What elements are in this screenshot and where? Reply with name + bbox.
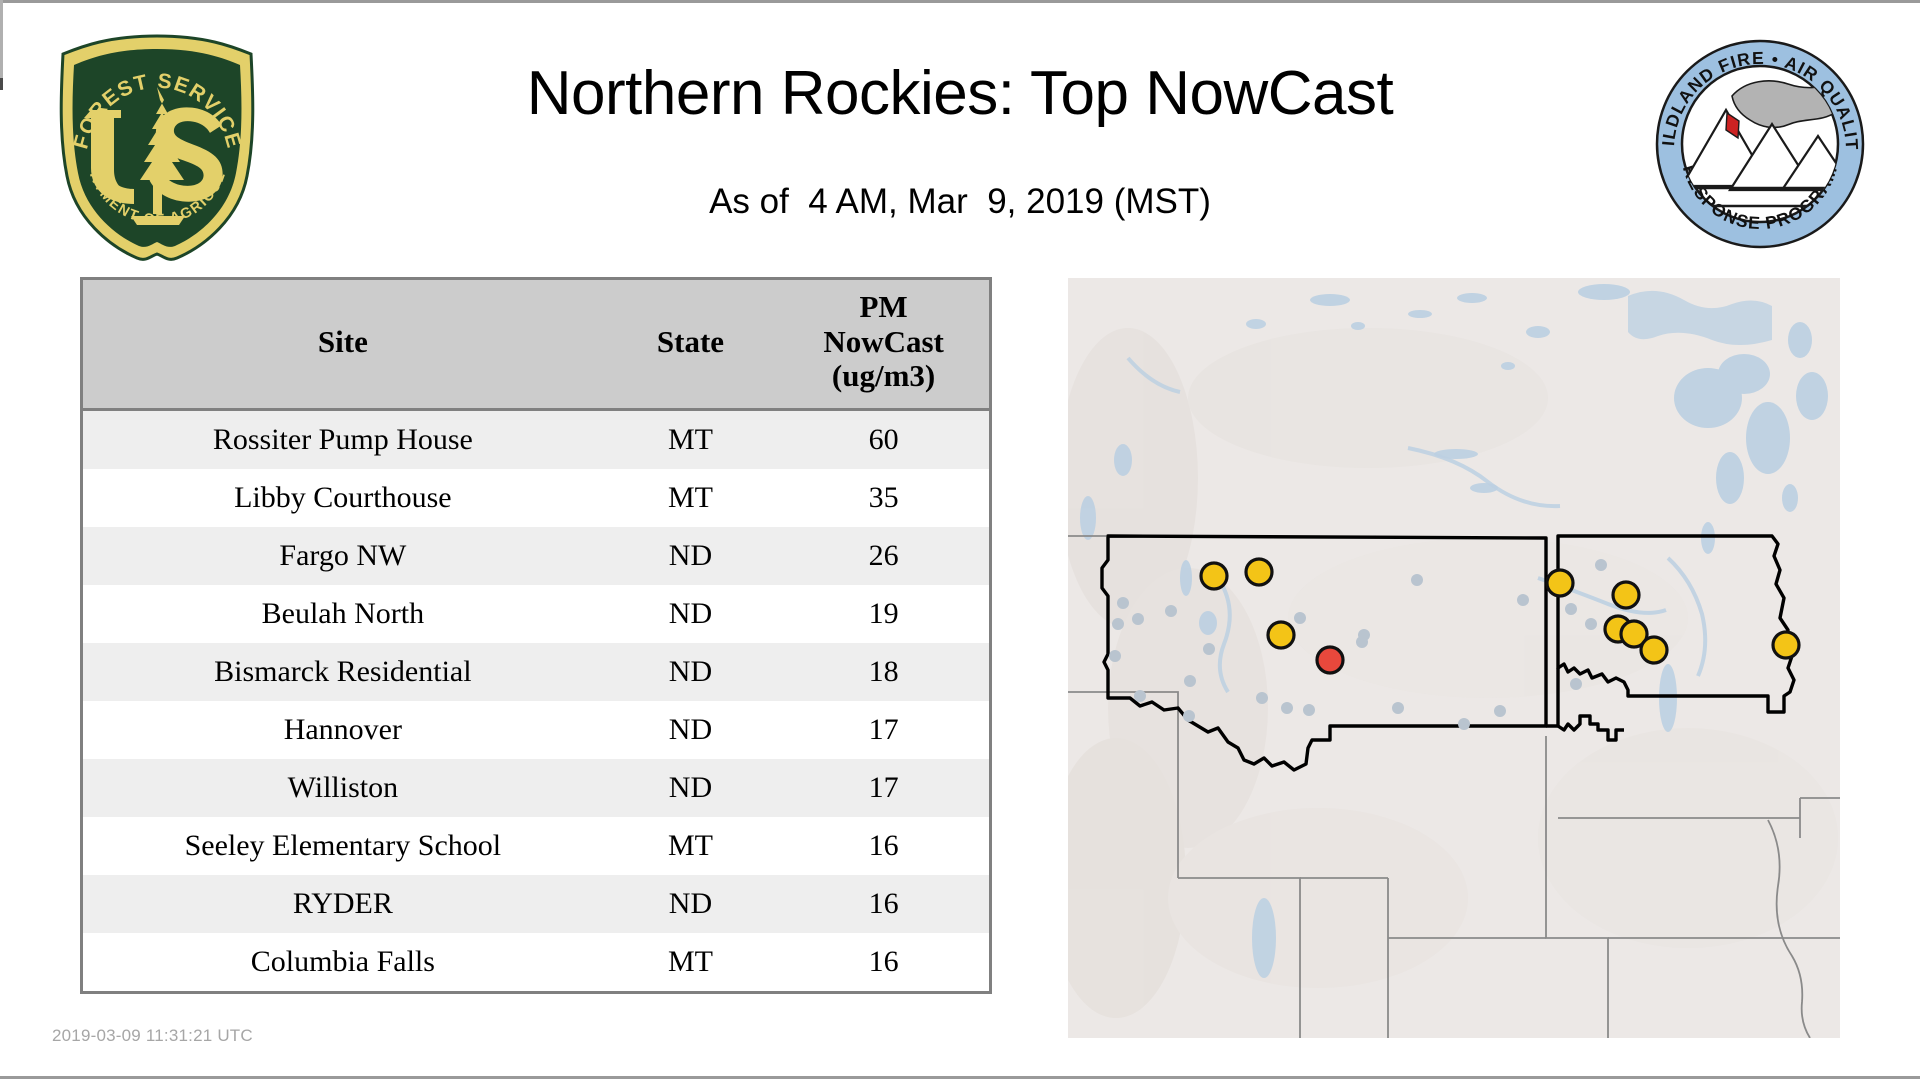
monitor-location-map[interactable]: Columbia Falls (MT)Libby Courthouse (MT)…: [1068, 278, 1840, 1038]
site-cell: Beulah North: [83, 585, 603, 643]
pm-value-cell: 16: [778, 875, 989, 933]
site-cell: Columbia Falls: [83, 933, 603, 991]
map-monitor-marker[interactable]: Williston (ND): [1547, 570, 1573, 596]
page-left-border-mark: [0, 78, 3, 90]
table-row: Columbia FallsMT16: [83, 933, 989, 991]
map-inactive-site-dot: [1494, 705, 1506, 717]
map-inactive-site-dot: [1458, 718, 1470, 730]
state-cell: ND: [603, 701, 778, 759]
site-cell: Bismarck Residential: [83, 643, 603, 701]
state-cell: ND: [603, 759, 778, 817]
map-monitor-marker[interactable]: Bismarck Residential (ND): [1641, 637, 1667, 663]
site-cell: Fargo NW: [83, 527, 603, 585]
map-inactive-site-dot: [1183, 710, 1195, 722]
map-inactive-site-dot: [1358, 629, 1370, 641]
map-inactive-site-dot: [1565, 603, 1577, 615]
map-monitor-marker[interactable]: RYDER (ND): [1613, 582, 1639, 608]
state-cell: MT: [603, 469, 778, 527]
table-row: WillistonND17: [83, 759, 989, 817]
state-cell: MT: [603, 817, 778, 875]
wildland-fire-air-quality-response-program-icon: WILDLAND FIRE • AIR QUALITY RESPONSE PRO…: [1654, 38, 1866, 250]
table-header-row: Site State PM NowCast (ug/m3): [83, 280, 989, 410]
pm-header-line-3: (ug/m3): [782, 359, 985, 394]
pm-value-cell: 17: [778, 701, 989, 759]
page-bottom-border: [0, 1076, 1920, 1079]
table-row: Libby CourthouseMT35: [83, 469, 989, 527]
state-cell: MT: [603, 410, 778, 470]
pm-value-cell: 16: [778, 933, 989, 991]
page-title: Northern Rockies: Top NowCast: [290, 58, 1630, 129]
map-inactive-site-dot: [1411, 574, 1423, 586]
state-cell: ND: [603, 585, 778, 643]
map-inactive-site-dot: [1203, 643, 1215, 655]
map-monitor-marker[interactable]: Libby Courthouse (MT): [1246, 559, 1272, 585]
map-monitor-marker[interactable]: Fargo NW (ND): [1773, 632, 1799, 658]
site-cell: Seeley Elementary School: [83, 817, 603, 875]
site-cell: Libby Courthouse: [83, 469, 603, 527]
map-monitor-marker[interactable]: Columbia Falls (MT): [1201, 563, 1227, 589]
site-cell: Rossiter Pump House: [83, 410, 603, 470]
map-inactive-site-dot: [1392, 702, 1404, 714]
map-inactive-site-dot: [1570, 678, 1582, 690]
table-row: Fargo NWND26: [83, 527, 989, 585]
table-body: Rossiter Pump HouseMT60Libby CourthouseM…: [83, 410, 989, 992]
table-row: RYDERND16: [83, 875, 989, 933]
page-subtitle: As of 4 AM, Mar 9, 2019 (MST): [290, 182, 1630, 222]
map-inactive-site-dot: [1184, 675, 1196, 687]
nowcast-table: Site State PM NowCast (ug/m3) Rossiter P…: [83, 280, 989, 991]
pm-value-cell: 26: [778, 527, 989, 585]
map-inactive-site-dot: [1134, 690, 1146, 702]
state-cell: MT: [603, 933, 778, 991]
site-cell: Hannover: [83, 701, 603, 759]
page-left-border: [0, 0, 3, 78]
map-monitor-marker[interactable]: Rossiter Pump House (MT): [1317, 647, 1343, 673]
page-top-border: [0, 0, 1920, 3]
column-header-site: Site: [83, 280, 603, 410]
generation-timestamp: 2019-03-09 11:31:21 UTC: [52, 1026, 253, 1046]
map-inactive-site-dot: [1117, 597, 1129, 609]
pm-value-cell: 35: [778, 469, 989, 527]
table-row: Rossiter Pump HouseMT60: [83, 410, 989, 470]
state-cell: ND: [603, 527, 778, 585]
nowcast-table-container: Site State PM NowCast (ug/m3) Rossiter P…: [80, 277, 992, 994]
map-inactive-site-dot: [1256, 692, 1268, 704]
column-header-state: State: [603, 280, 778, 410]
pm-value-cell: 17: [778, 759, 989, 817]
pm-value-cell: 16: [778, 817, 989, 875]
table-header: Site State PM NowCast (ug/m3): [83, 280, 989, 410]
map-monitor-marker[interactable]: Seeley Elementary School (MT): [1268, 622, 1294, 648]
table-row: Beulah NorthND19: [83, 585, 989, 643]
map-inactive-site-dot: [1132, 613, 1144, 625]
map-inactive-site-dot: [1109, 650, 1121, 662]
column-header-pm-nowcast: PM NowCast (ug/m3): [778, 280, 989, 410]
map-inactive-site-dot: [1112, 618, 1124, 630]
table-row: Seeley Elementary SchoolMT16: [83, 817, 989, 875]
map-inactive-site-dot: [1165, 605, 1177, 617]
pm-value-cell: 18: [778, 643, 989, 701]
pm-header-line-2: NowCast: [782, 325, 985, 360]
table-row: Bismarck ResidentialND18: [83, 643, 989, 701]
pm-value-cell: 60: [778, 410, 989, 470]
map-inactive-site-dot: [1303, 704, 1315, 716]
map-inactive-site-dot: [1517, 594, 1529, 606]
usda-forest-service-shield-icon: FOREST SERVICE DEPARTMENT OF AGRICULTURE: [55, 32, 260, 264]
pm-value-cell: 19: [778, 585, 989, 643]
map-inactive-site-dot: [1595, 559, 1607, 571]
map-inactive-site-dot: [1281, 702, 1293, 714]
site-cell: RYDER: [83, 875, 603, 933]
pm-header-line-1: PM: [782, 290, 985, 325]
site-cell: Williston: [83, 759, 603, 817]
table-row: HannoverND17: [83, 701, 989, 759]
map-inactive-site-dot: [1294, 612, 1306, 624]
state-cell: ND: [603, 875, 778, 933]
state-cell: ND: [603, 643, 778, 701]
map-inactive-site-dot: [1585, 618, 1597, 630]
